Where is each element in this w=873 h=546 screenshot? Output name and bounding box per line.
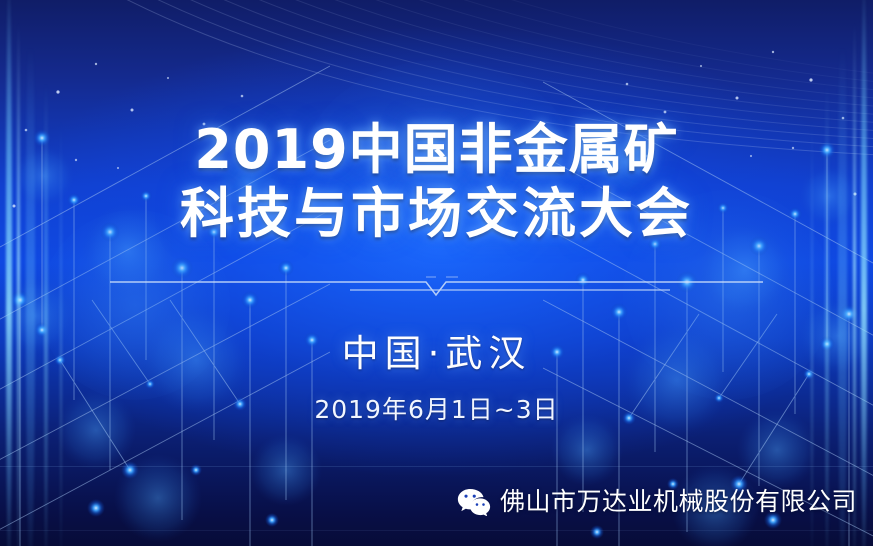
title-block: 2019中国非金属矿 科技与市场交流大会 (0, 118, 873, 246)
conference-banner: 2019中国非金属矿 科技与市场交流大会 中国·武汉 2019年6月1日~3日 (0, 0, 873, 546)
wechat-icon (457, 488, 491, 516)
banner-content: 2019中国非金属矿 科技与市场交流大会 中国·武汉 2019年6月1日~3日 (0, 0, 873, 546)
scan-band-1 (0, 466, 873, 467)
company-name: 佛山市万达业机械股份有限公司 (500, 487, 857, 517)
title-line-2: 科技与市场交流大会 (0, 182, 873, 246)
footer-wechat-block: 佛山市万达业机械股份有限公司 (457, 487, 857, 517)
date-text: 2019年6月1日~3日 (0, 394, 873, 426)
scan-band-2 (0, 530, 873, 531)
location-text: 中国·武汉 (0, 331, 873, 377)
divider-rule (110, 273, 763, 299)
title-line-1: 2019中国非金属矿 (0, 118, 873, 182)
